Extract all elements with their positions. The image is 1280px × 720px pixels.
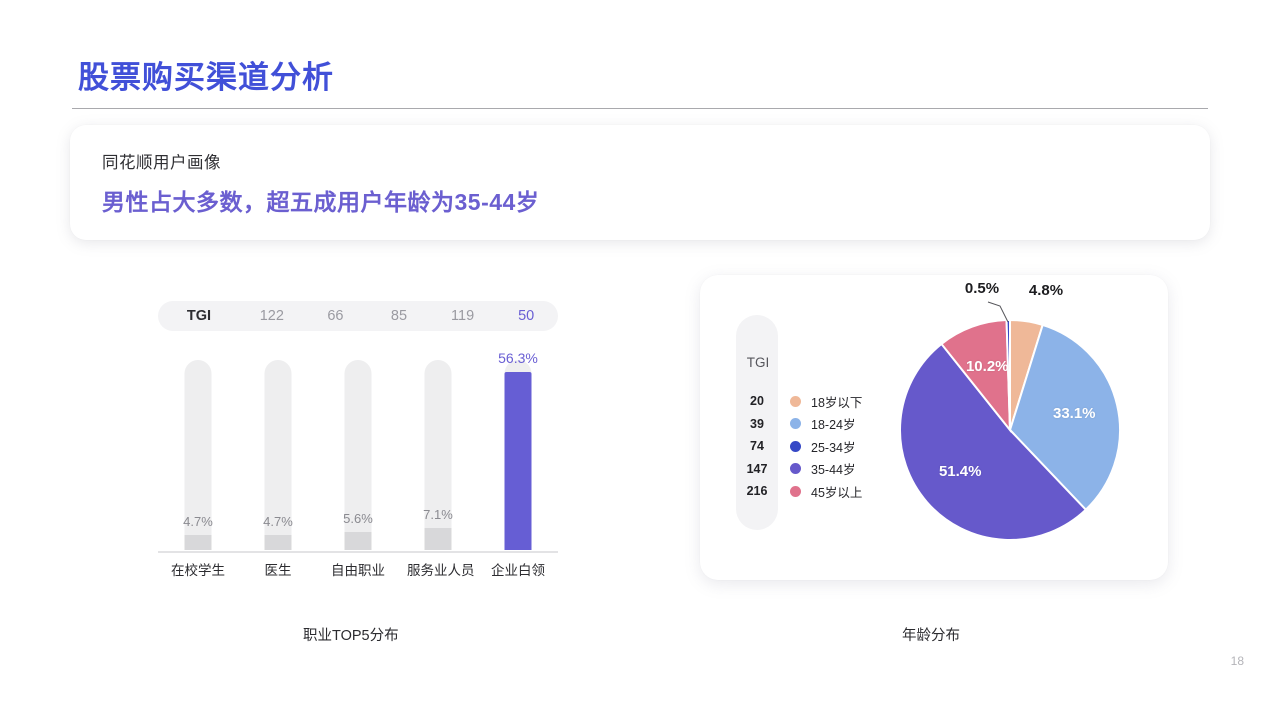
pie-leader-line	[875, 295, 1145, 565]
occupation-bar-chart: TGI 122 66 85 119 50 4.7%4.7%5.6%7.1%56.…	[140, 275, 580, 605]
summary-eyebrow: 同花顺用户画像	[102, 149, 221, 173]
legend-item[interactable]: 21645岁以上	[736, 480, 862, 503]
legend-color-dot-icon	[790, 486, 801, 497]
legend-item[interactable]: 2018岁以下	[736, 390, 862, 413]
page-number: 18	[1231, 654, 1244, 668]
legend-item[interactable]: 14735-44岁	[736, 458, 862, 481]
legend-label: 35-44岁	[811, 459, 855, 478]
legend-tgi-value: 147	[736, 462, 778, 476]
bar-fill[interactable]	[425, 528, 452, 550]
bar-value-label: 56.3%	[498, 350, 538, 366]
legend-tgi-value: 216	[736, 484, 778, 498]
bar-container: 4.7%4.7%5.6%7.1%56.3%	[158, 360, 558, 550]
bar-x-axis-labels: 在校学生医生自由职业服务业人员企业白领	[158, 559, 558, 579]
tgi-row: TGI 122 66 85 119 50	[158, 301, 558, 331]
bar-column: 7.1%	[407, 360, 469, 550]
pie-chart: 4.8%33.1%51.4%10.2%0.5%	[875, 295, 1145, 565]
bar-column: 4.7%	[247, 360, 309, 550]
page-title: 股票购买渠道分析	[78, 52, 334, 97]
legend-color-dot-icon	[790, 418, 801, 429]
bar-column: 5.6%	[327, 360, 389, 550]
age-pie-card: TGI 2018岁以下3918-24岁7425-34岁14735-44岁2164…	[700, 275, 1168, 580]
tgi-value: 119	[431, 308, 495, 324]
legend-label: 25-34岁	[811, 437, 855, 456]
summary-headline: 男性占大多数，超五成用户年龄为35-44岁	[102, 183, 539, 217]
legend-label: 18-24岁	[811, 414, 855, 433]
title-divider	[72, 108, 1208, 109]
bar-fill[interactable]	[185, 535, 212, 550]
legend-tgi-value: 20	[736, 394, 778, 408]
bar-value-label: 4.7%	[183, 514, 213, 529]
legend-label: 45岁以上	[811, 482, 862, 501]
bar-value-label: 7.1%	[423, 507, 453, 522]
legend-tgi-value: 39	[736, 417, 778, 431]
bar-fill[interactable]	[505, 372, 532, 550]
bar-axis-line	[158, 551, 558, 553]
legend-color-dot-icon	[790, 463, 801, 474]
bar-column: 4.7%	[167, 360, 229, 550]
bar-x-label: 医生	[247, 559, 309, 579]
legend-item[interactable]: 3918-24岁	[736, 413, 862, 436]
tgi-row-label: TGI	[158, 308, 240, 324]
bar-fill[interactable]	[265, 535, 292, 550]
slide-root: 股票购买渠道分析 同花顺用户画像 男性占大多数，超五成用户年龄为35-44岁 T…	[0, 0, 1280, 720]
summary-card: 同花顺用户画像 男性占大多数，超五成用户年龄为35-44岁	[70, 125, 1210, 240]
tgi-value: 66	[304, 308, 368, 324]
legend-color-dot-icon	[790, 396, 801, 407]
legend-color-dot-icon	[790, 441, 801, 452]
tgi-value: 50	[494, 308, 558, 324]
caption-age: 年龄分布	[902, 624, 960, 645]
bar-x-label: 服务业人员	[407, 559, 469, 579]
bar-x-label: 在校学生	[167, 559, 229, 579]
pie-legend: 2018岁以下3918-24岁7425-34岁14735-44岁21645岁以上	[736, 390, 862, 503]
legend-tgi-value: 74	[736, 439, 778, 453]
legend-tgi-label: TGI	[740, 355, 776, 370]
tgi-value: 122	[240, 308, 304, 324]
bar-x-label: 企业白领	[487, 559, 549, 579]
bar-x-label: 自由职业	[327, 559, 389, 579]
legend-label: 18岁以下	[811, 392, 862, 411]
legend-item[interactable]: 7425-34岁	[736, 435, 862, 458]
bar-value-label: 5.6%	[343, 511, 373, 526]
bar-fill[interactable]	[345, 532, 372, 550]
bar-value-label: 4.7%	[263, 514, 293, 529]
caption-occupation: 职业TOP5分布	[303, 624, 399, 645]
bar-column: 56.3%	[487, 360, 549, 550]
tgi-value: 85	[367, 308, 431, 324]
